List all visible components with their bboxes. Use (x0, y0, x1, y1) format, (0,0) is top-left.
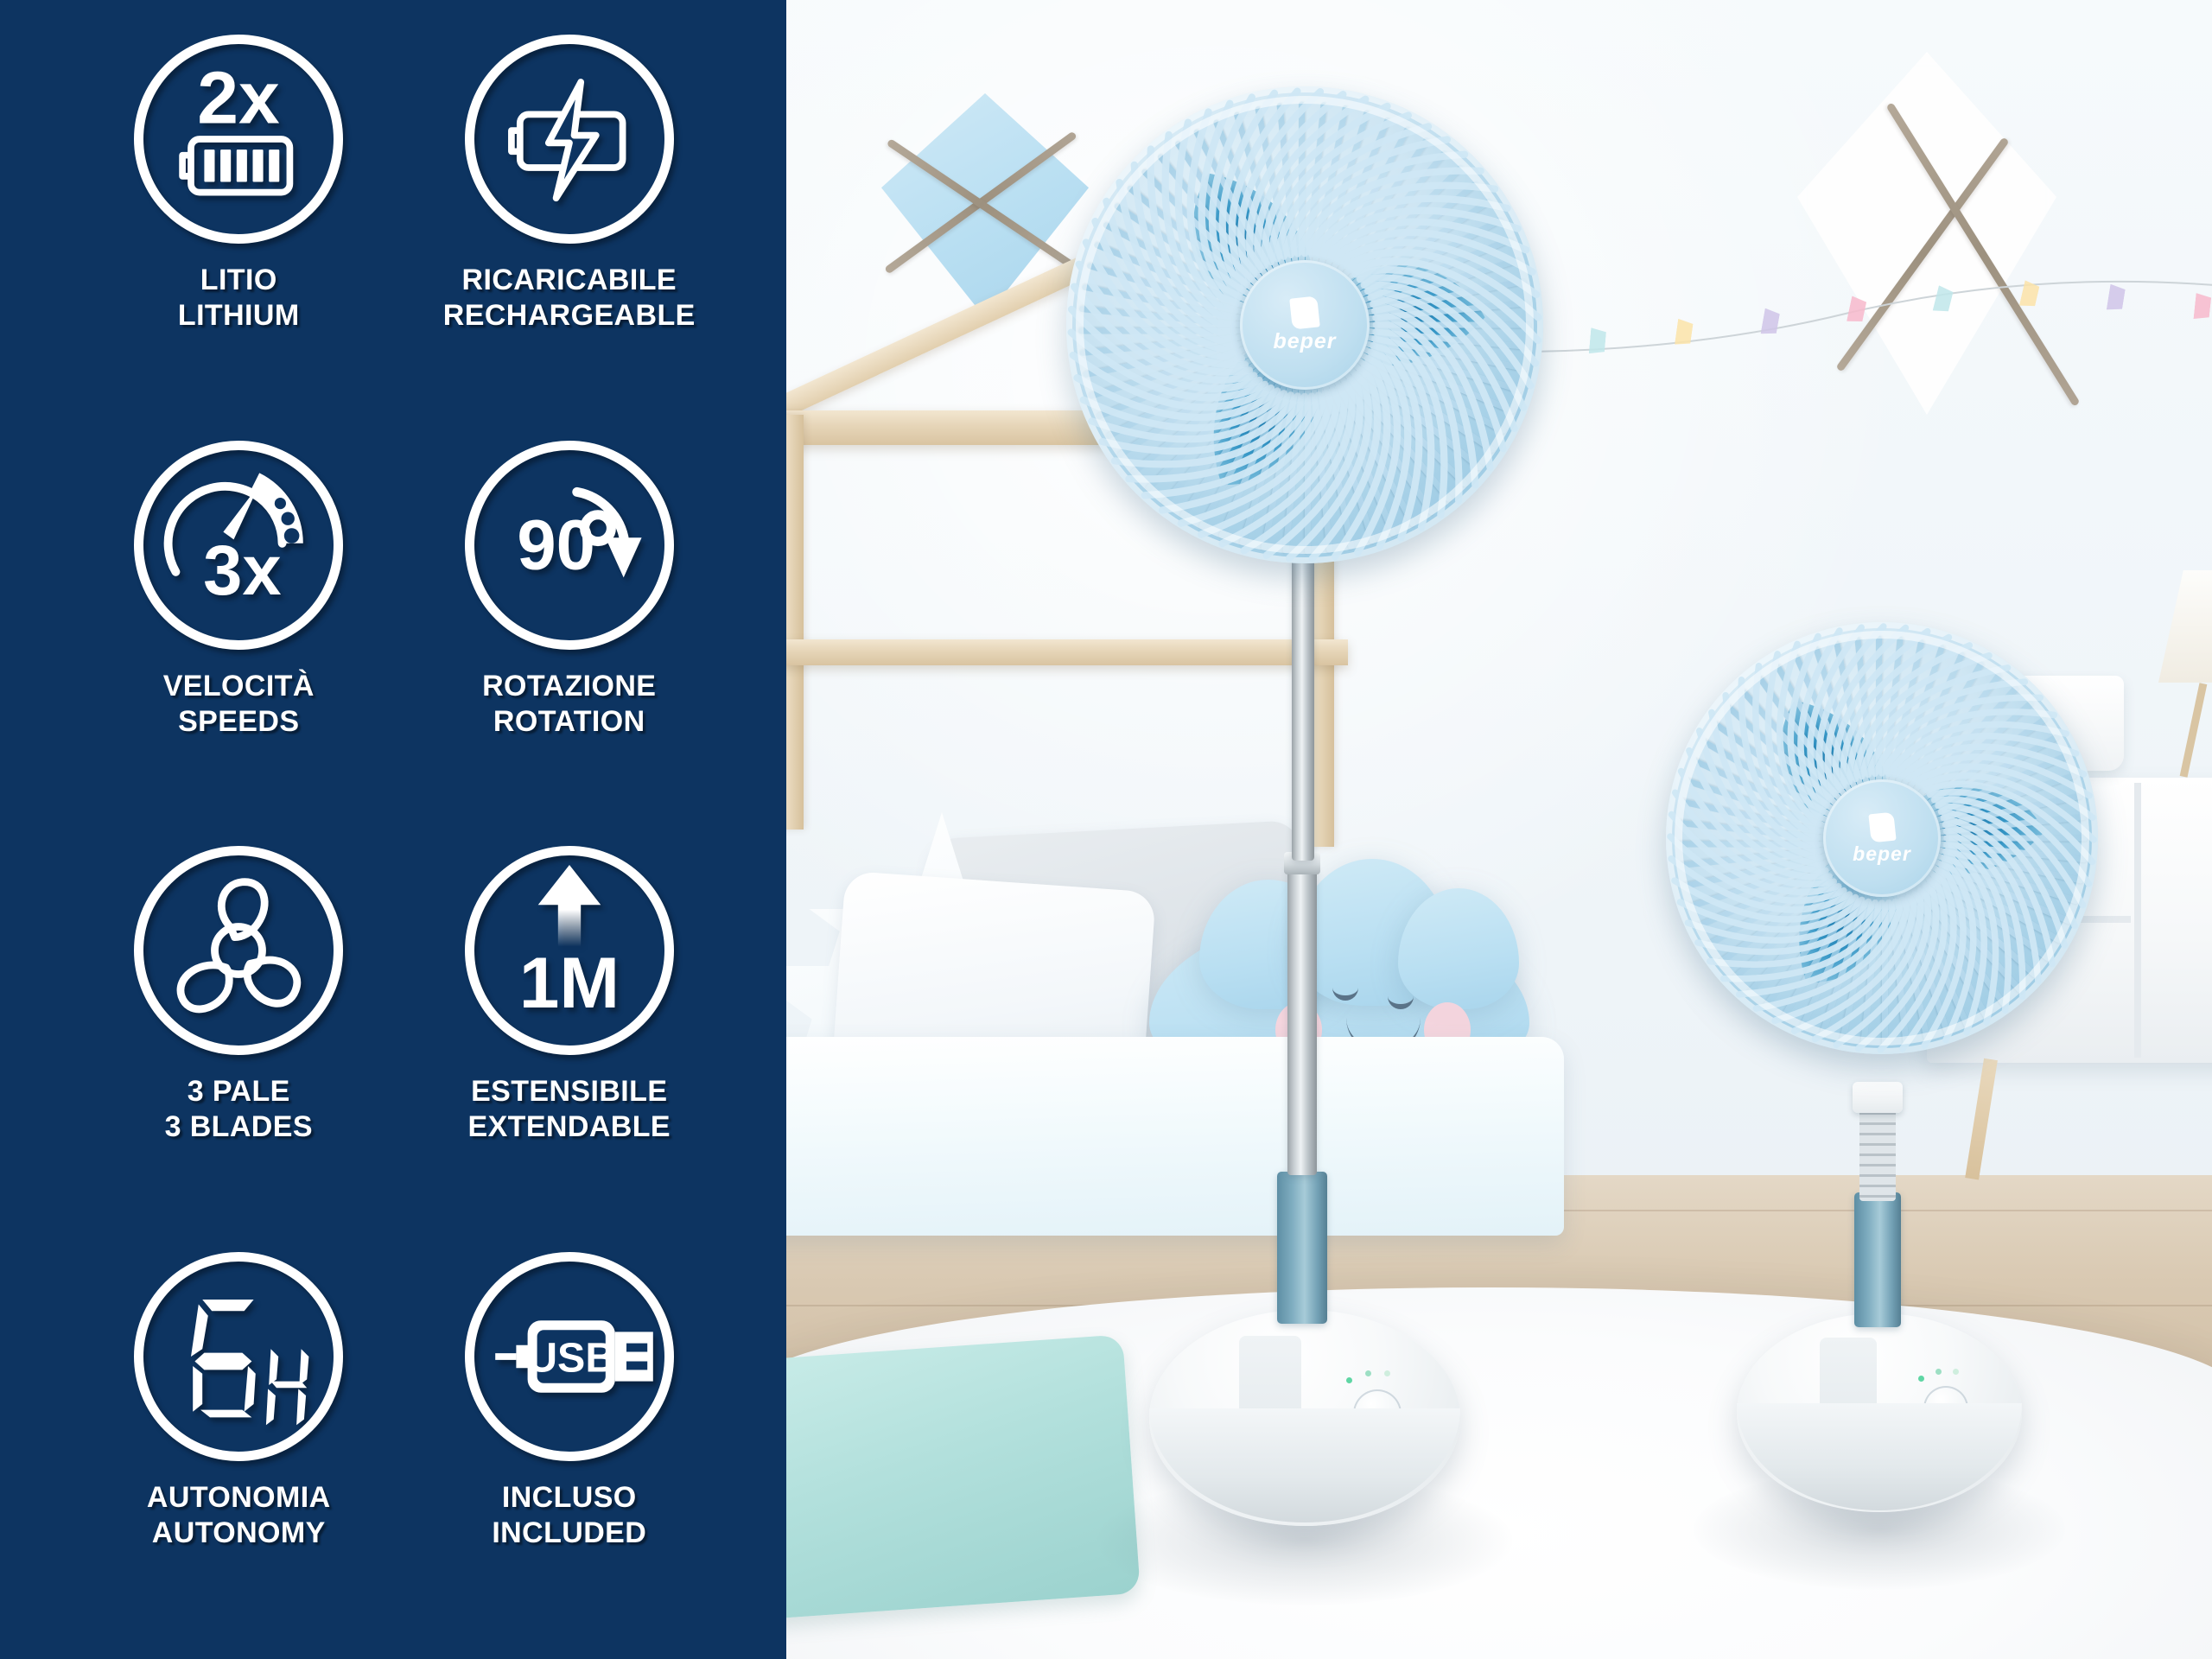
label-it: ROTAZIONE (482, 670, 656, 702)
infographic-stage: 2x LITIO LITHIUM (0, 0, 2212, 1659)
led-indicator-2-2 (1935, 1369, 1942, 1375)
label-en: ROTATION (482, 704, 656, 740)
label-en: RECHARGEABLE (443, 298, 696, 334)
usb-connector-icon: USB (465, 1252, 674, 1461)
svg-text:2x: 2x (198, 56, 281, 139)
feature-label-lithium: LITIO LITHIUM (178, 263, 300, 334)
feature-usb: USB INCLUSO INCLUDED (404, 1236, 735, 1643)
label-it: VELOCITÀ (163, 670, 315, 702)
feature-label-rechargeable: RICARICABILE RECHARGEABLE (443, 263, 696, 334)
arrow-up-1m-icon: 1M (465, 846, 674, 1055)
digital-6h-icon (134, 1252, 343, 1461)
svg-text:1M: 1M (519, 942, 620, 1023)
fan-pole-lower (1287, 864, 1317, 1175)
led-indicator-2-1 (1918, 1376, 1924, 1382)
label-en: LITHIUM (178, 298, 300, 334)
label-it: AUTONOMIA (147, 1481, 331, 1514)
label-it: INCLUSO (502, 1481, 637, 1514)
label-en: INCLUDED (492, 1516, 646, 1551)
feature-label-extendable: ESTENSIBILE EXTENDABLE (468, 1074, 671, 1146)
label-it: 3 PALE (188, 1075, 290, 1108)
led-indicator-2-3 (1953, 1369, 1959, 1375)
feature-autonomy: AUTONOMIA AUTONOMY (73, 1236, 404, 1643)
label-it: LITIO (200, 264, 277, 296)
fan-hub-2: beper (1823, 779, 1941, 897)
beper-logo-text-2: beper (1853, 844, 1911, 864)
fan-head: beper (1066, 86, 1543, 563)
beper-logo-mark-2 (1868, 811, 1896, 842)
feature-rechargeable: RICARICABILE RECHARGEABLE (404, 19, 735, 425)
fan-hub: beper (1240, 260, 1370, 390)
fan-pole-collapsed-2 (1859, 1104, 1896, 1201)
feature-rotation: 90 ROTAZIONE ROTATION (404, 425, 735, 831)
feature-lithium: 2x LITIO LITHIUM (73, 19, 404, 425)
rotation-90-icon: 90 (465, 441, 674, 650)
bed-post-left (786, 415, 804, 829)
beper-logo-mark (1289, 296, 1320, 329)
battery-2x-icon: 2x (134, 35, 343, 244)
speedometer-3x-icon: 3x (134, 441, 343, 650)
feature-speeds: 3x VELOCITÀ SPEEDS (73, 425, 404, 831)
svg-text:3x: 3x (203, 531, 282, 610)
fan-grip-teal-2 (1854, 1192, 1901, 1327)
led-indicator-1 (1346, 1377, 1352, 1383)
fan-pole-mid (1292, 553, 1314, 861)
battery-charging-icon (465, 35, 674, 244)
label-en: AUTONOMY (147, 1516, 331, 1551)
beper-logo-text: beper (1273, 331, 1336, 353)
led-indicator-2 (1365, 1370, 1371, 1376)
product-photo-scene: beper (786, 0, 2212, 1659)
feature-extendable: 1M ESTENSIBILE EXTENDABLE (404, 830, 735, 1236)
label-en: EXTENDABLE (468, 1109, 671, 1145)
feature-label-usb: INCLUSO INCLUDED (492, 1480, 646, 1552)
led-indicator-3 (1384, 1370, 1390, 1376)
propeller-3-blades-icon (134, 846, 343, 1055)
label-en: SPEEDS (163, 704, 315, 740)
standing-fan-extended: beper (1046, 104, 1702, 1624)
fan-grip-teal (1277, 1172, 1327, 1324)
feature-panel: 2x LITIO LITHIUM (0, 0, 786, 1659)
label-en: 3 BLADES (165, 1109, 313, 1145)
label-it: ESTENSIBILE (471, 1075, 667, 1108)
feature-label-speeds: VELOCITÀ SPEEDS (163, 669, 315, 741)
feature-label-blades: 3 PALE 3 BLADES (165, 1074, 313, 1146)
feature-label-rotation: ROTAZIONE ROTATION (482, 669, 656, 741)
standing-fan-compact: beper (1650, 760, 2186, 1624)
feature-label-autonomy: AUTONOMIA AUTONOMY (147, 1480, 331, 1552)
svg-text:USB: USB (527, 1334, 615, 1381)
feature-blades: 3 PALE 3 BLADES (73, 830, 404, 1236)
fan-head-2: beper (1666, 622, 2098, 1054)
fan-neck-clip-2 (1853, 1082, 1903, 1113)
label-it: RICARICABILE (462, 264, 677, 296)
